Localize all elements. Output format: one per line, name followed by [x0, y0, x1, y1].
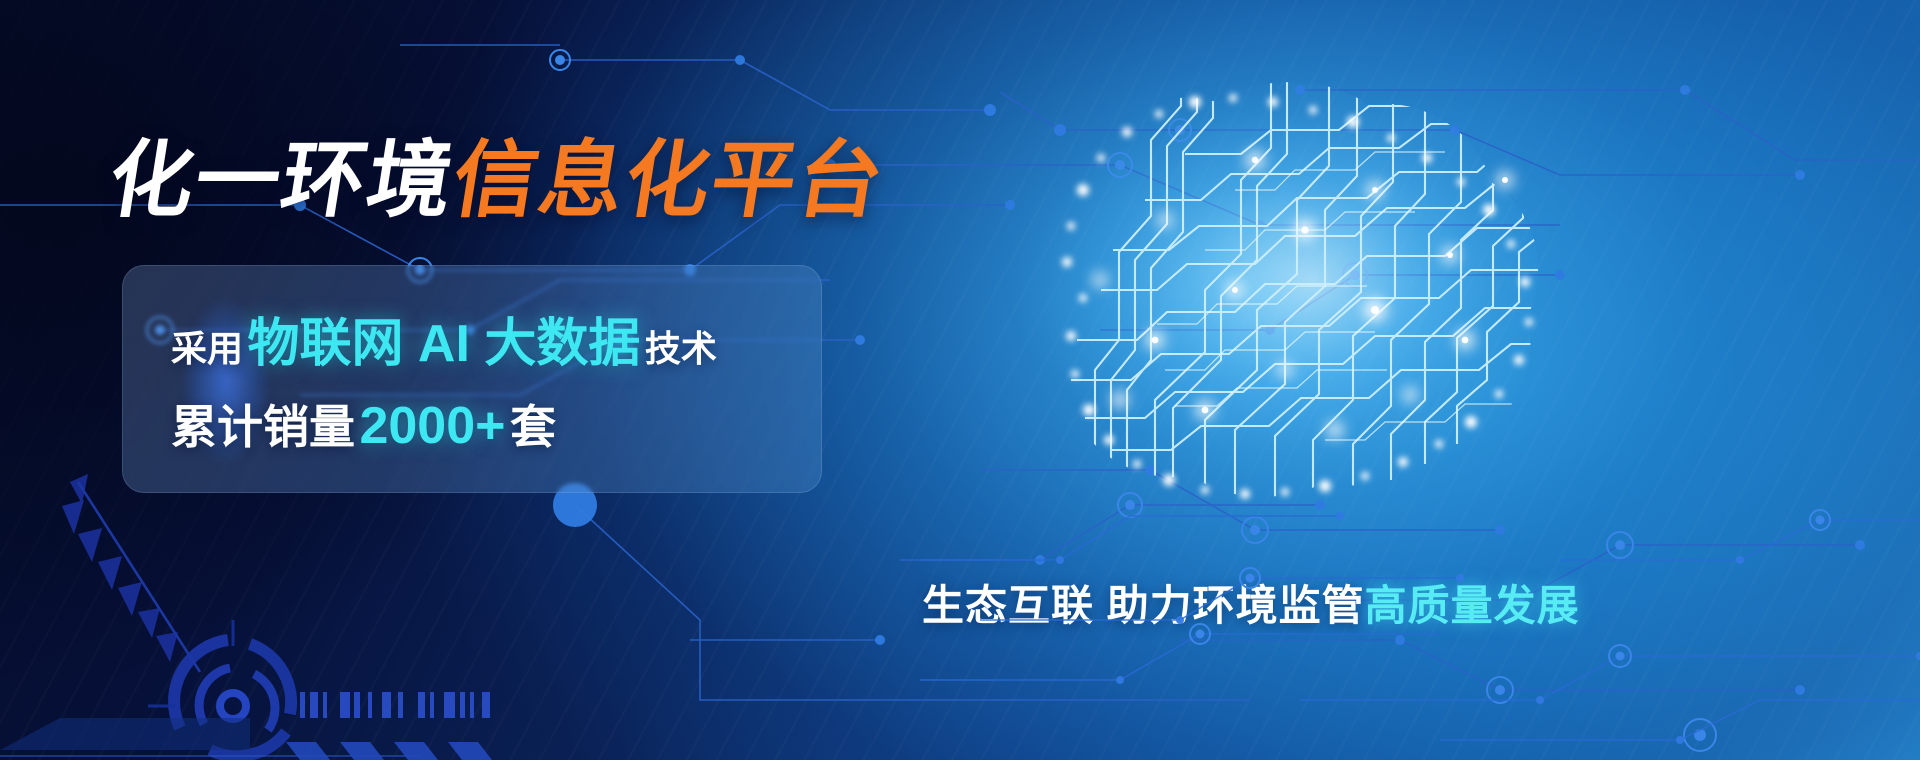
circuit-brain-graphic: [905, 40, 1585, 520]
tagline: 生态互联 助力环境监管高质量发展: [922, 585, 1580, 627]
hud-ring-inner: [199, 668, 275, 730]
hud-decor-group: [0, 460, 920, 760]
brain-circuit-icon: [905, 40, 1585, 520]
tagline-white-part: 生态互联 助力环境监管: [922, 582, 1365, 629]
barcode-strip-icon: [300, 692, 490, 718]
info-panel: 采用 物联网 AI 大数据 技术 累计销量 2000+ 套: [122, 265, 822, 493]
info-panel-line-2: 累计销量 2000+ 套: [171, 400, 556, 452]
hero-banner: 化一环境信息化平台 采用 物联网 AI 大数据 技术 累计销量 2000+ 套 …: [0, 0, 1920, 760]
chevron-row-icon: [286, 742, 492, 760]
headline-orange-part: 信息化平台: [447, 133, 892, 227]
line2-prefix: 累计销量: [171, 401, 355, 453]
panel-glow-blob-decor: [171, 276, 281, 486]
line2-highlight: 2000+: [359, 397, 505, 455]
hud-ring-icon: [174, 640, 291, 756]
line1-highlight: 物联网 AI 大数据: [247, 315, 640, 373]
line1-prefix: 采用: [171, 328, 243, 369]
headline-white-part: 化一环境: [103, 133, 462, 227]
bottom-circuit-decor: [920, 500, 1920, 760]
info-panel-line-1: 采用 物联网 AI 大数据 技术: [171, 318, 717, 370]
headline: 化一环境信息化平台: [103, 138, 890, 222]
hud-ring-core: [220, 693, 246, 719]
tagline-cyan-part: 高质量发展: [1365, 582, 1580, 629]
line1-suffix: 技术: [645, 328, 717, 369]
chevron-arrow-icon: [62, 474, 200, 672]
hud-band-decor: [0, 718, 420, 756]
line2-suffix: 套: [510, 401, 556, 453]
